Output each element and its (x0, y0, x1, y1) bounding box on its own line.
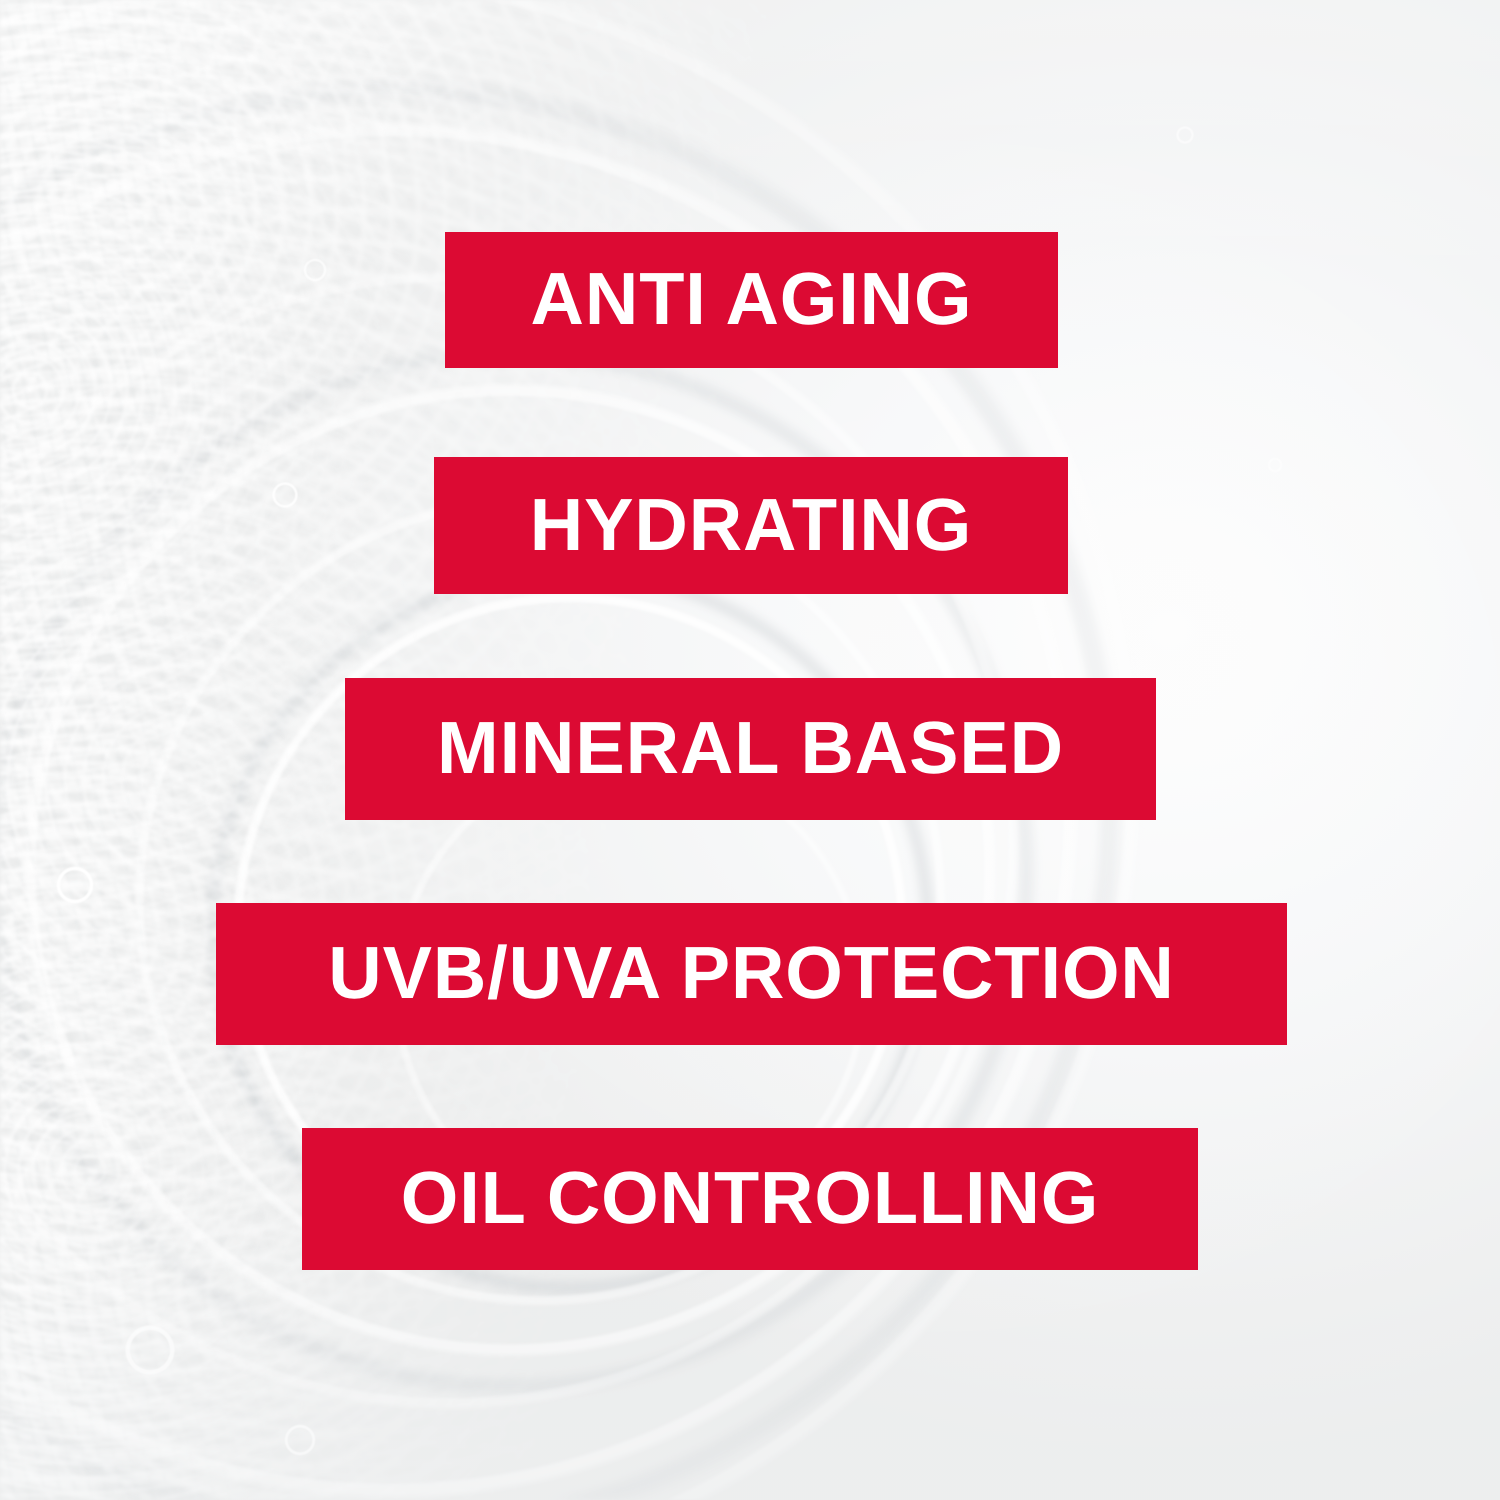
benefit-label-hydrating: HYDRATING (530, 488, 972, 562)
benefit-banner-anti-aging: ANTI AGING (445, 232, 1058, 368)
benefit-banner-hydrating: HYDRATING (434, 457, 1068, 594)
benefit-label-mineral-based: MINERAL BASED (437, 711, 1064, 785)
benefit-label-uvb-uva-protection: UVB/UVA PROTECTION (328, 936, 1174, 1010)
benefit-label-anti-aging: ANTI AGING (531, 262, 973, 336)
benefit-label-oil-controlling: OIL CONTROLLING (401, 1161, 1099, 1235)
benefit-banner-oil-controlling: OIL CONTROLLING (302, 1128, 1198, 1270)
product-benefits-graphic: ANTI AGING HYDRATING MINERAL BASED UVB/U… (0, 0, 1500, 1500)
benefit-banner-mineral-based: MINERAL BASED (345, 678, 1156, 820)
benefit-banner-uvb-uva-protection: UVB/UVA PROTECTION (216, 903, 1287, 1045)
